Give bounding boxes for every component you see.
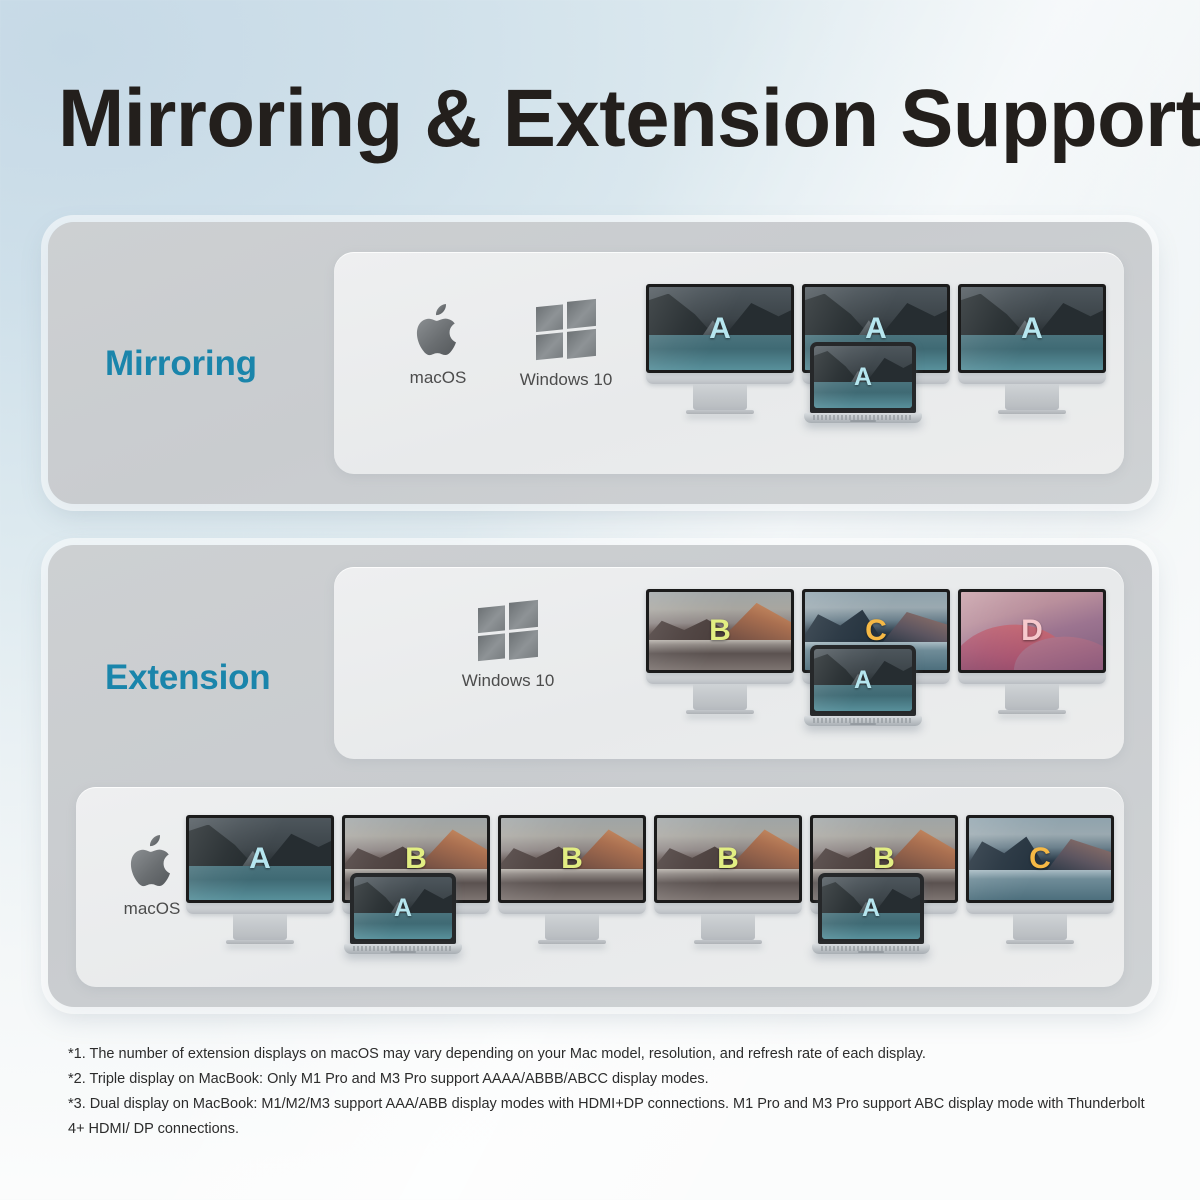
windows-icon xyxy=(448,603,568,665)
laptop-letter: A xyxy=(862,894,880,923)
monitor-letter: B xyxy=(405,842,427,876)
os-logo-macos: macOS xyxy=(106,831,198,919)
footnotes: *1. The number of extension displays on … xyxy=(68,1042,1148,1142)
os-logo-label: macOS xyxy=(106,899,198,919)
os-logo-label: macOS xyxy=(392,368,484,388)
monitor-3: A xyxy=(958,284,1106,414)
monitor-letter: A xyxy=(865,312,887,346)
mirroring-section-card: Mirroring macOS Windows 10 xyxy=(48,222,1152,504)
extension-section-label: Extension xyxy=(105,658,270,698)
monitor-1: A xyxy=(186,815,334,944)
extension-macos-group-1: A B B xyxy=(186,815,646,981)
os-logo-windows: Windows 10 xyxy=(448,603,568,691)
footnote-1: *1. The number of extension displays on … xyxy=(68,1042,1148,1067)
laptop-1: A xyxy=(810,342,916,423)
monitor-letter: B xyxy=(873,842,895,876)
monitor-letter: A xyxy=(709,312,731,346)
monitor-3: D xyxy=(958,589,1106,714)
monitor-letter: A xyxy=(1021,312,1043,346)
monitor-1: B xyxy=(646,589,794,714)
footnote-3: *3. Dual display on MacBook: M1/M2/M3 su… xyxy=(68,1092,1148,1142)
monitor-4: B xyxy=(654,815,802,944)
os-logo-windows: Windows 10 xyxy=(506,302,626,390)
laptop-letter: A xyxy=(854,666,872,695)
os-logo-label: Windows 10 xyxy=(506,370,626,390)
extension-windows-panel: Windows 10 B C xyxy=(334,567,1124,759)
monitor-letter: A xyxy=(249,842,271,876)
laptop-letter: A xyxy=(854,363,872,392)
extension-macos-panel: macOS A B xyxy=(76,787,1124,987)
monitor-6: C xyxy=(966,815,1114,944)
extension-windows-display-rig: B C D xyxy=(646,589,1106,749)
mirroring-section-label: Mirroring xyxy=(105,344,257,384)
monitor-letter: B xyxy=(709,614,731,648)
windows-icon xyxy=(506,302,626,364)
monitor-letter: B xyxy=(561,842,583,876)
monitor-1: A xyxy=(646,284,794,414)
apple-icon xyxy=(392,300,484,362)
laptop-letter: A xyxy=(394,894,412,923)
laptop-1: A xyxy=(350,873,456,954)
laptop-1: A xyxy=(810,645,916,726)
extension-macos-group-2: B B C xyxy=(654,815,1114,981)
extension-section-card: Extension Windows 10 B C xyxy=(48,545,1152,1007)
mirroring-os-panel: macOS Windows 10 A xyxy=(334,252,1124,474)
apple-icon xyxy=(106,831,198,893)
os-logo-macos: macOS xyxy=(392,300,484,388)
footnote-2: *2. Triple display on MacBook: Only M1 P… xyxy=(68,1067,1148,1092)
monitor-letter: B xyxy=(717,842,739,876)
laptop-2: A xyxy=(818,873,924,954)
monitor-letter: C xyxy=(1029,842,1051,876)
mirroring-display-rig: A A A xyxy=(646,284,1106,464)
page-title: Mirroring & Extension Support xyxy=(58,78,1125,160)
os-logo-label: Windows 10 xyxy=(448,671,568,691)
monitor-letter: D xyxy=(1021,614,1043,648)
monitor-letter: C xyxy=(865,614,887,648)
monitor-3: B xyxy=(498,815,646,944)
